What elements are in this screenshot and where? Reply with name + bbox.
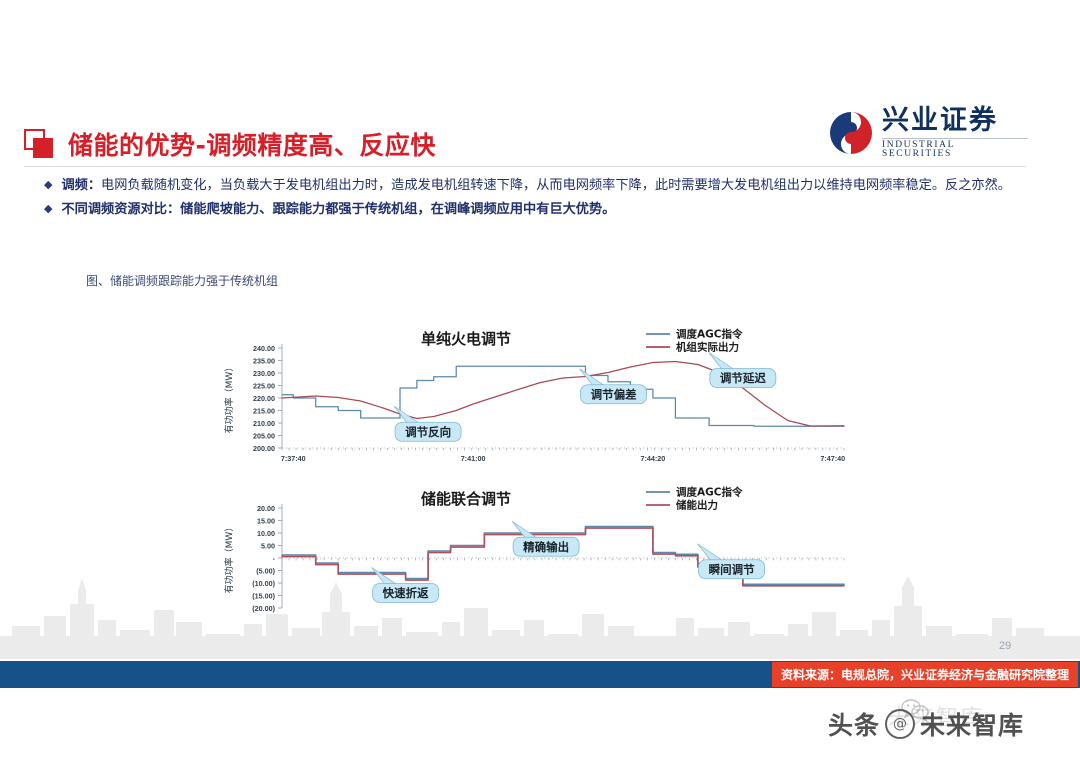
svg-text:有功功率（MW）: 有功功率（MW） — [223, 363, 235, 434]
svg-text:7:44:20: 7:44:20 — [641, 454, 666, 463]
svg-text:240.00: 240.00 — [253, 344, 275, 353]
chart-callout: 调节偏差 — [580, 369, 647, 404]
legend-label: 调度AGC指令 — [676, 486, 743, 499]
svg-text:15.00: 15.00 — [257, 517, 275, 526]
at-icon: @ — [885, 709, 915, 739]
svg-text:7:47:40: 7:47:40 — [820, 454, 845, 463]
svg-text:200.00: 200.00 — [253, 444, 275, 453]
chart-callout: 调节延迟 — [709, 353, 776, 388]
svg-text:单纯火电调节: 单纯火电调节 — [421, 330, 511, 348]
svg-text:215.00: 215.00 — [253, 407, 275, 416]
page-number: 29 — [999, 640, 1011, 652]
legend-label: 机组实际出力 — [676, 341, 739, 354]
svg-text:210.00: 210.00 — [253, 419, 275, 428]
svg-text:20.00: 20.00 — [257, 504, 275, 513]
bullet-item: ◆ 调频：电网负载随机变化，当负载大于发电机组出力时，造成发电机组转速下降，从而… — [44, 176, 1034, 196]
bullet-body: 储能爬坡能力、跟踪能力都强于传统机组，在调峰调频应用中有巨大优势。 — [180, 202, 615, 217]
svg-text:精确输出: 精确输出 — [523, 540, 569, 554]
logo-name-cn: 兴业证券 — [882, 107, 1028, 134]
chart-thermal: 200.00205.00210.00215.00220.00225.00230.… — [216, 326, 852, 478]
svg-text:7:37:40: 7:37:40 — [281, 454, 306, 463]
svg-text:225.00: 225.00 — [253, 382, 275, 391]
svg-text:调节反向: 调节反向 — [405, 425, 451, 439]
chart-callout: 精确输出 — [512, 521, 579, 556]
source-note: 资料来源：电规总院，兴业证券经济与金融研究院整理 — [772, 662, 1078, 687]
svg-text:调节偏差: 调节偏差 — [591, 387, 637, 401]
figure-caption: 图、储能调频跟踪能力强于传统机组 — [86, 272, 278, 289]
legend-label: 调度AGC指令 — [676, 328, 743, 341]
svg-text:储能联合调节: 储能联合调节 — [421, 490, 511, 508]
svg-text:-: - — [273, 554, 276, 563]
svg-text:205.00: 205.00 — [253, 432, 275, 441]
bullet-diamond-icon: ◆ — [44, 200, 52, 219]
logo-name-en: INDUSTRIAL SECURITIES — [882, 138, 1028, 160]
svg-text:230.00: 230.00 — [253, 369, 275, 378]
skyline-decoration — [0, 564, 1080, 659]
svg-text:220.00: 220.00 — [253, 394, 275, 403]
page-title: 储能的优势-调频精度高、反应快 — [68, 126, 436, 162]
svg-text:调节延迟: 调节延迟 — [720, 371, 766, 385]
source-text: 资料来源：电规总院，兴业证券经济与金融研究院整理 — [781, 666, 1069, 683]
svg-text:5.00: 5.00 — [261, 542, 275, 551]
legend-label: 储能出力 — [676, 499, 718, 512]
title-divider — [24, 166, 1026, 167]
watermark-prefix: 头条 — [828, 706, 880, 742]
bullet-body: 电网负载随机变化，当负载大于发电机组出力时，造成发电机组转速下降，从而电网频率下… — [101, 178, 1011, 193]
logo-mark-icon — [828, 110, 874, 156]
bullet-list: ◆ 调频：电网负载随机变化，当负载大于发电机组出力时，造成发电机组转速下降，从而… — [44, 176, 1034, 223]
watermark-bottom: 头条 @ 未来智库 — [828, 706, 1024, 742]
svg-text:235.00: 235.00 — [253, 357, 275, 366]
slide: 兴业证券 INDUSTRIAL SECURITIES 储能的优势-调频精度高、反… — [0, 0, 1080, 764]
bullet-lead: 调频： — [61, 178, 101, 193]
chart-thermal: 200.00205.00210.00215.00220.00225.00230.… — [216, 326, 852, 478]
svg-text:7:41:00: 7:41:00 — [461, 454, 486, 463]
square-badge-icon — [24, 129, 54, 159]
company-logo: 兴业证券 INDUSTRIAL SECURITIES — [828, 104, 1028, 162]
watermark-name: 未来智库 — [920, 706, 1024, 742]
svg-text:10.00: 10.00 — [257, 529, 275, 538]
page-title-row: 储能的优势-调频精度高、反应快 — [24, 126, 436, 162]
bullet-item: ◆ 不同调频资源对比：储能爬坡能力、跟踪能力都强于传统机组，在调峰调频应用中有巨… — [44, 200, 1034, 220]
bullet-lead: 不同调频资源对比： — [61, 202, 180, 217]
bullet-diamond-icon: ◆ — [44, 176, 52, 195]
